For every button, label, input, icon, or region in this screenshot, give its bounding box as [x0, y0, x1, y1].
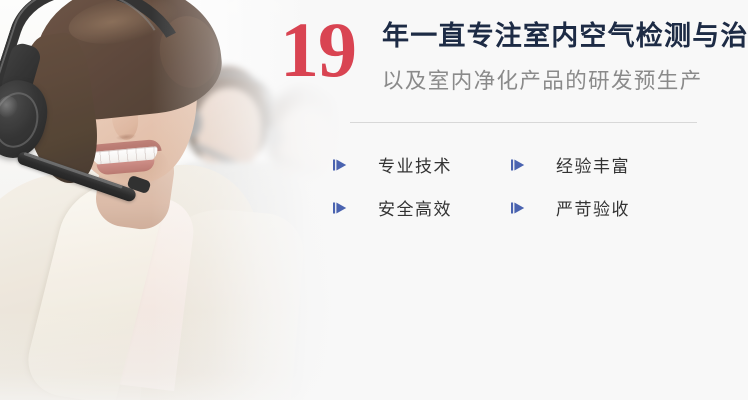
section-divider: [350, 122, 697, 123]
triangle-right-icon: [510, 200, 526, 216]
headline-text-block: 年一直专注室内空气检测与治理 以及室内净化产品的研发预生产: [382, 12, 748, 96]
feature-item: 安全高效: [332, 195, 510, 220]
triangle-right-icon: [332, 200, 348, 216]
subheadline: 以及室内净化产品的研发预生产: [382, 68, 748, 96]
feature-item: 经验丰富: [510, 152, 688, 177]
feature-label: 安全高效: [378, 195, 452, 220]
feature-label: 严苛验收: [556, 195, 630, 220]
feature-item: 严苛验收: [510, 195, 688, 220]
hero-headline-group: 19 年一直专注室内空气检测与治理 以及室内净化产品的研发预生产: [280, 12, 748, 96]
promo-banner: 19 年一直专注室内空气检测与治理 以及室内净化产品的研发预生产 专业技术: [0, 0, 748, 400]
feature-label: 经验丰富: [556, 152, 630, 177]
banner-content: 19 年一直专注室内空气检测与治理 以及室内净化产品的研发预生产 专业技术: [280, 0, 748, 400]
years-number: 19: [280, 14, 376, 86]
triangle-right-icon: [332, 157, 348, 173]
feature-list: 专业技术 经验丰富 安全高效: [332, 143, 732, 229]
foreground-agent: [0, 0, 272, 400]
headline: 年一直专注室内空气检测与治理: [382, 20, 748, 54]
feature-item: 专业技术: [332, 152, 510, 177]
feature-label: 专业技术: [378, 152, 452, 177]
triangle-right-icon: [510, 157, 526, 173]
